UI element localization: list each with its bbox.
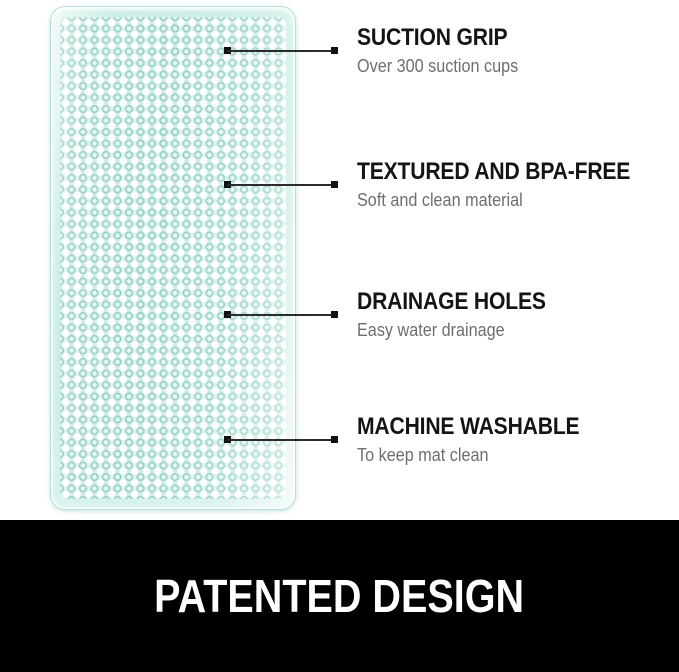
leader-line-icon (224, 436, 338, 443)
callout-subtitle: To keep mat clean (357, 444, 585, 466)
leader-end-marker-icon (331, 311, 338, 318)
callout-text-block: TEXTURED AND BPA-FREE Soft and clean mat… (357, 159, 667, 211)
bottom-banner: PATENTED DESIGN (0, 520, 679, 672)
callout-text-block: DRAINAGE HOLES Easy water drainage (357, 289, 572, 341)
leader-line-icon (224, 181, 338, 188)
callout-subtitle: Over 300 suction cups (357, 55, 518, 77)
leader-line-icon (224, 47, 338, 54)
leader-rule (227, 314, 335, 316)
leader-end-marker-icon (331, 181, 338, 188)
leader-rule (227, 439, 335, 441)
leader-end-marker-icon (331, 436, 338, 443)
bath-mat-texture-field (60, 17, 286, 499)
leader-end-marker-icon (331, 47, 338, 54)
callout-title: DRAINAGE HOLES (357, 289, 546, 315)
callout-subtitle: Soft and clean material (357, 189, 636, 211)
callout-title: TEXTURED AND BPA-FREE (357, 159, 630, 185)
callout-text-block: SUCTION GRIP Over 300 suction cups (357, 25, 536, 77)
leader-rule (227, 50, 335, 52)
product-infographic: SUCTION GRIP Over 300 suction cups TEXTU… (0, 0, 679, 672)
callout-title: MACHINE WASHABLE (357, 414, 579, 440)
callout-subtitle: Easy water drainage (357, 319, 550, 341)
callout-title: SUCTION GRIP (357, 25, 515, 51)
leader-rule (227, 184, 335, 186)
leader-line-icon (224, 311, 338, 318)
callout-text-block: MACHINE WASHABLE To keep mat clean (357, 414, 610, 466)
bath-mat-body (50, 6, 296, 510)
banner-headline: PATENTED DESIGN (155, 571, 525, 621)
